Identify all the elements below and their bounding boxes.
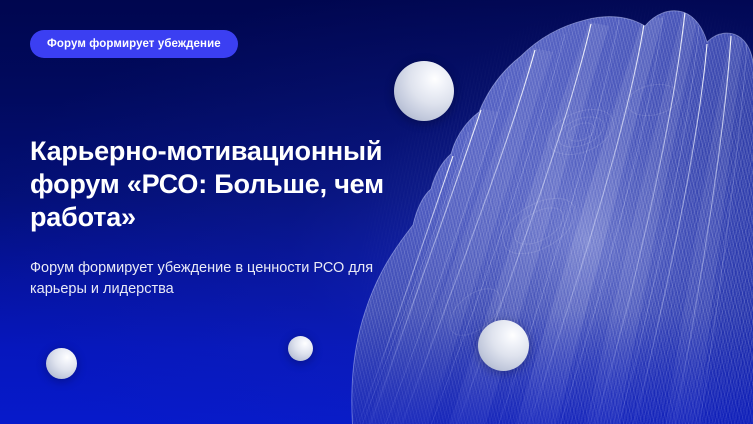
page-subtitle: Форум формирует убеждение в ценности РСО… — [30, 258, 380, 300]
hero-content: Форум формирует убеждение Карьерно-мотив… — [0, 0, 420, 424]
decorative-sphere-medium — [478, 320, 529, 371]
hero-slide: Форум формирует убеждение Карьерно-мотив… — [0, 0, 753, 424]
page-title: Карьерно-мотивационный форум «РСО: Больш… — [30, 135, 415, 234]
hero-badge[interactable]: Форум формирует убеждение — [30, 30, 238, 58]
